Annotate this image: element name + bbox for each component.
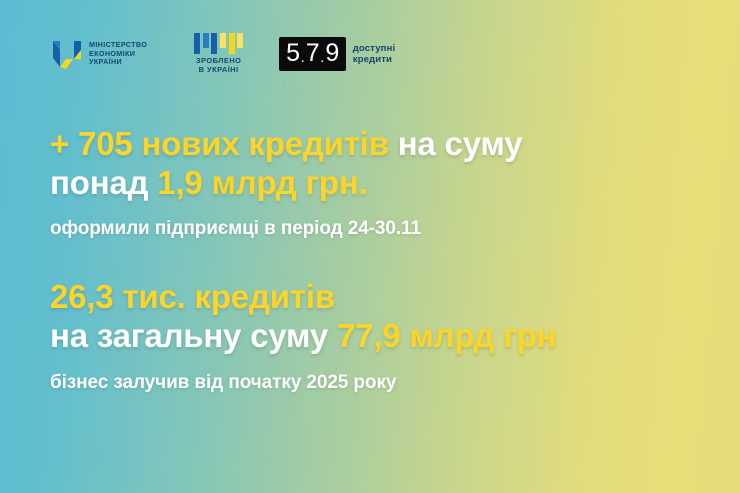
program-579-logo: 5 . 7 . 9 доступні кредити — [279, 37, 395, 71]
program-digit-3: 9 — [325, 41, 338, 66]
weekly-headline-connector: на суму — [389, 125, 523, 162]
flag-bars-icon — [194, 33, 243, 54]
program-line-1: доступні — [353, 43, 396, 55]
program-line-2: кредити — [353, 54, 396, 66]
statistic-block-yearly: 26,3 тис. кредитів на загальну суму 77,9… — [50, 277, 556, 356]
weekly-loans-amount: 1,9 млрд грн. — [157, 164, 367, 201]
program-579-wordmark: доступні кредити — [353, 43, 396, 66]
program-digit-1: 5 — [286, 41, 299, 66]
made-line-2: В УКРАЇНІ — [199, 66, 239, 75]
ministry-line-3: УКРАЇНИ — [89, 58, 147, 66]
made-in-ukraine-wordmark: ЗРОБЛЕНО В УКРАЇНІ — [196, 57, 242, 74]
logo-bar: МІНІСТЕРСТВО ЕКОНОМІКИ УКРАЇНИ ЗРОБЛЕНО … — [52, 31, 395, 77]
weekly-subline: оформили підприємці в період 24-30.11 — [50, 218, 421, 240]
weekly-headline-prefix: понад — [50, 164, 157, 201]
statistic-block-weekly: + 705 нових кредитів на суму понад 1,9 м… — [50, 124, 522, 203]
ministry-logo-wordmark: МІНІСТЕРСТВО ЕКОНОМІКИ УКРАЇНИ — [89, 41, 147, 66]
program-digit-2: 7 — [306, 41, 319, 66]
infographic-poster: МІНІСТЕРСТВО ЕКОНОМІКИ УКРАЇНИ ЗРОБЛЕНО … — [0, 0, 740, 493]
program-579-badge: 5 . 7 . 9 — [279, 37, 346, 71]
yearly-headline: 26,3 тис. кредитів на загальну суму 77,9… — [50, 277, 556, 356]
yearly-subline: бізнес залучив від початку 2025 року — [50, 372, 396, 394]
yearly-headline-prefix: на загальну суму — [50, 317, 337, 354]
weekly-loans-count: + 705 нових кредитів — [50, 125, 389, 162]
program-separator-2: . — [320, 50, 324, 65]
ministry-emblem-icon — [52, 38, 82, 71]
program-separator-1: . — [301, 50, 305, 65]
yearly-loans-count: 26,3 тис. кредитів — [50, 278, 335, 315]
made-in-ukraine-logo: ЗРОБЛЕНО В УКРАЇНІ — [194, 33, 243, 74]
yearly-loans-amount: 77,9 млрд грн — [337, 317, 556, 354]
ministry-of-economy-logo: МІНІСТЕРСТВО ЕКОНОМІКИ УКРАЇНИ — [52, 38, 147, 71]
weekly-headline: + 705 нових кредитів на суму понад 1,9 м… — [50, 124, 522, 203]
